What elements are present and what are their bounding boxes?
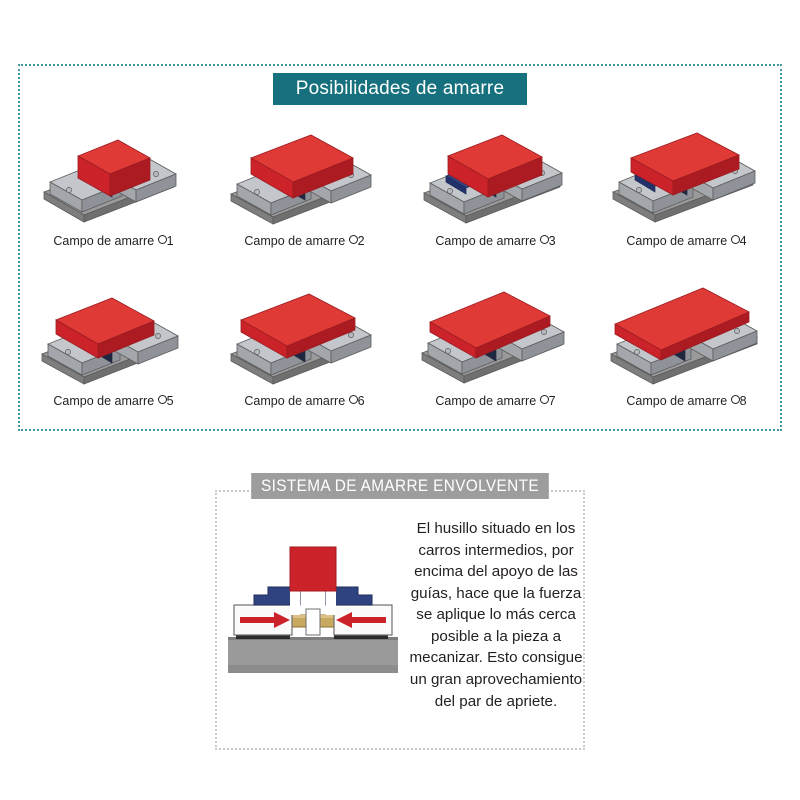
clamping-field-item-05[interactable]: Campo de amarre 5 (18, 278, 209, 408)
clamping-field-item-01[interactable]: Campo de amarre 1 (18, 118, 209, 248)
clamping-field-label-02: Campo de amarre 2 (244, 234, 364, 248)
clamping-field-figure-05 (26, 278, 201, 388)
clamping-field-label-number: 1 (167, 234, 174, 248)
clamping-field-label-number: 3 (549, 234, 556, 248)
clamping-field-label-prefix: Campo de amarre (244, 234, 345, 248)
zero-circle-icon (540, 395, 549, 404)
clamping-field-figure-03 (408, 118, 583, 228)
clamping-field-item-03[interactable]: Campo de amarre 3 (400, 118, 591, 248)
clamping-field-label-03: Campo de amarre 3 (435, 234, 555, 248)
clamping-field-figure-08 (599, 278, 774, 388)
clamping-field-label-prefix: Campo de amarre (626, 394, 727, 408)
section-heading-banner: SISTEMA DE AMARRE ENVOLVENTE (251, 473, 549, 499)
clamping-field-label-prefix: Campo de amarre (244, 394, 345, 408)
zero-circle-icon (158, 395, 167, 404)
cross-section-clamping-diagram (228, 533, 398, 673)
clamping-field-item-06[interactable]: Campo de amarre 6 (209, 278, 400, 408)
clamping-field-label-01: Campo de amarre 1 (53, 234, 173, 248)
clamping-field-figure-04 (599, 118, 774, 228)
clamping-field-row-1: Campo de amarre 1 (18, 118, 782, 248)
clamping-field-label-number: 5 (167, 394, 174, 408)
clamping-field-item-08[interactable]: Campo de amarre 8 (591, 278, 782, 408)
section-heading-text: SISTEMA DE AMARRE ENVOLVENTE (261, 477, 539, 496)
clamping-field-item-04[interactable]: Campo de amarre 4 (591, 118, 782, 248)
clamping-field-label-prefix: Campo de amarre (53, 394, 154, 408)
zero-circle-icon (349, 395, 358, 404)
clamping-field-label-07: Campo de amarre 7 (435, 394, 555, 408)
clamping-field-item-02[interactable]: Campo de amarre 2 (209, 118, 400, 248)
section-body-text: El husillo situado en los carros interme… (406, 518, 586, 712)
clamping-field-label-number: 2 (358, 234, 365, 248)
clamping-field-item-07[interactable]: Campo de amarre 7 (400, 278, 591, 408)
clamping-field-label-05: Campo de amarre 5 (53, 394, 173, 408)
clamping-field-label-04: Campo de amarre 4 (626, 234, 746, 248)
clamping-field-label-number: 8 (740, 394, 747, 408)
clamping-field-label-prefix: Campo de amarre (626, 234, 727, 248)
zero-circle-icon (731, 235, 740, 244)
clamping-field-label-number: 6 (358, 394, 365, 408)
clamping-field-label-number: 7 (549, 394, 556, 408)
clamping-field-figure-01 (26, 118, 201, 228)
clamping-field-figure-07 (408, 278, 583, 388)
zero-circle-icon (349, 235, 358, 244)
panel-title-text: Posibilidades de amarre (296, 78, 504, 100)
clamping-field-label-prefix: Campo de amarre (53, 234, 154, 248)
clamping-field-label-08: Campo de amarre 8 (626, 394, 746, 408)
zero-circle-icon (731, 395, 740, 404)
panel-title-banner: Posibilidades de amarre (273, 73, 527, 105)
clamping-field-label-prefix: Campo de amarre (435, 394, 536, 408)
clamping-field-label-prefix: Campo de amarre (435, 234, 536, 248)
clamping-field-row-2: Campo de amarre 5 (18, 278, 782, 408)
clamping-field-figure-06 (217, 278, 392, 388)
clamping-field-figure-02 (217, 118, 392, 228)
zero-circle-icon (158, 235, 167, 244)
zero-circle-icon (540, 235, 549, 244)
clamping-field-label-number: 4 (740, 234, 747, 248)
clamping-field-label-06: Campo de amarre 6 (244, 394, 364, 408)
